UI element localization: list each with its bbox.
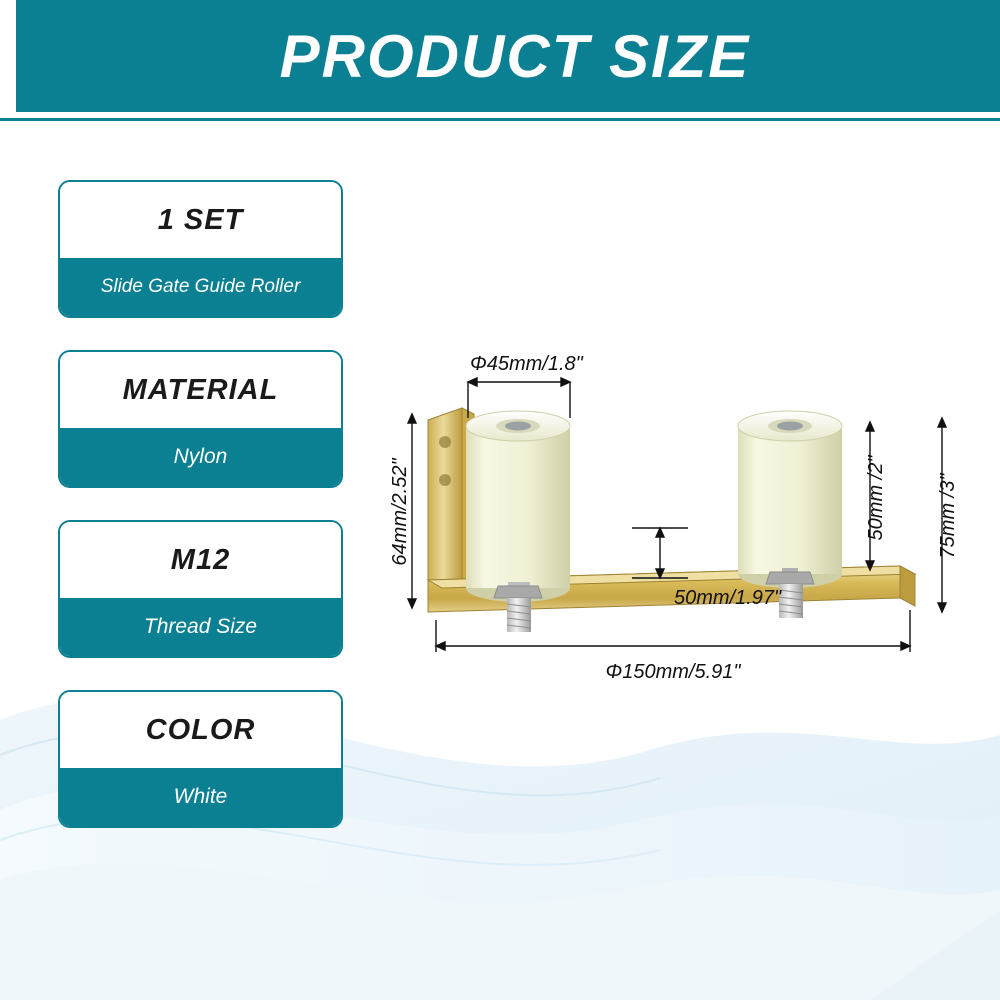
spec-card-material-title: MATERIAL <box>60 352 341 428</box>
spec-card-color-title: COLOR <box>60 692 341 768</box>
spec-card-thread-size: M12 Thread Size <box>58 520 343 658</box>
dim-bracket-height: 64mm/2.52" <box>389 458 411 566</box>
spec-card-color: COLOR White <box>58 690 343 828</box>
product-size-infographic: PRODUCT SIZE 1 SET Slide Gate Guide Roll… <box>0 0 1000 1000</box>
corner-accent <box>870 910 1000 1000</box>
page-title: PRODUCT SIZE <box>0 0 1000 112</box>
spec-card-material: MATERIAL Nylon <box>58 350 343 488</box>
dim-roller-spacing: 50mm/1.97" <box>674 587 782 609</box>
spec-card-color-subtitle: White <box>60 768 341 826</box>
spec-card-material-subtitle: Nylon <box>60 428 341 486</box>
spec-card-quantity: 1 SET Slide Gate Guide Roller <box>58 180 343 318</box>
dim-overall-length: Φ150mm/5.91" <box>605 661 741 683</box>
spec-card-thread-size-title: M12 <box>60 522 341 598</box>
spec-card-quantity-title: 1 SET <box>60 182 341 258</box>
dim-roller-height-right: 50mm /2" <box>865 455 887 541</box>
header-divider-accent <box>0 118 1000 121</box>
product-figure: Φ45mm/1.8" 64mm/2.52" 50mm /2" 75mm /3" … <box>370 330 990 750</box>
product-image <box>428 408 915 632</box>
dim-overall-height: 75mm /3" <box>937 473 959 559</box>
spec-card-thread-size-subtitle: Thread Size <box>60 598 341 656</box>
spec-card-quantity-subtitle: Slide Gate Guide Roller <box>60 258 341 316</box>
spec-card-list: 1 SET Slide Gate Guide Roller MATERIAL N… <box>58 180 343 860</box>
dim-roller-diameter: Φ45mm/1.8" <box>470 353 584 375</box>
